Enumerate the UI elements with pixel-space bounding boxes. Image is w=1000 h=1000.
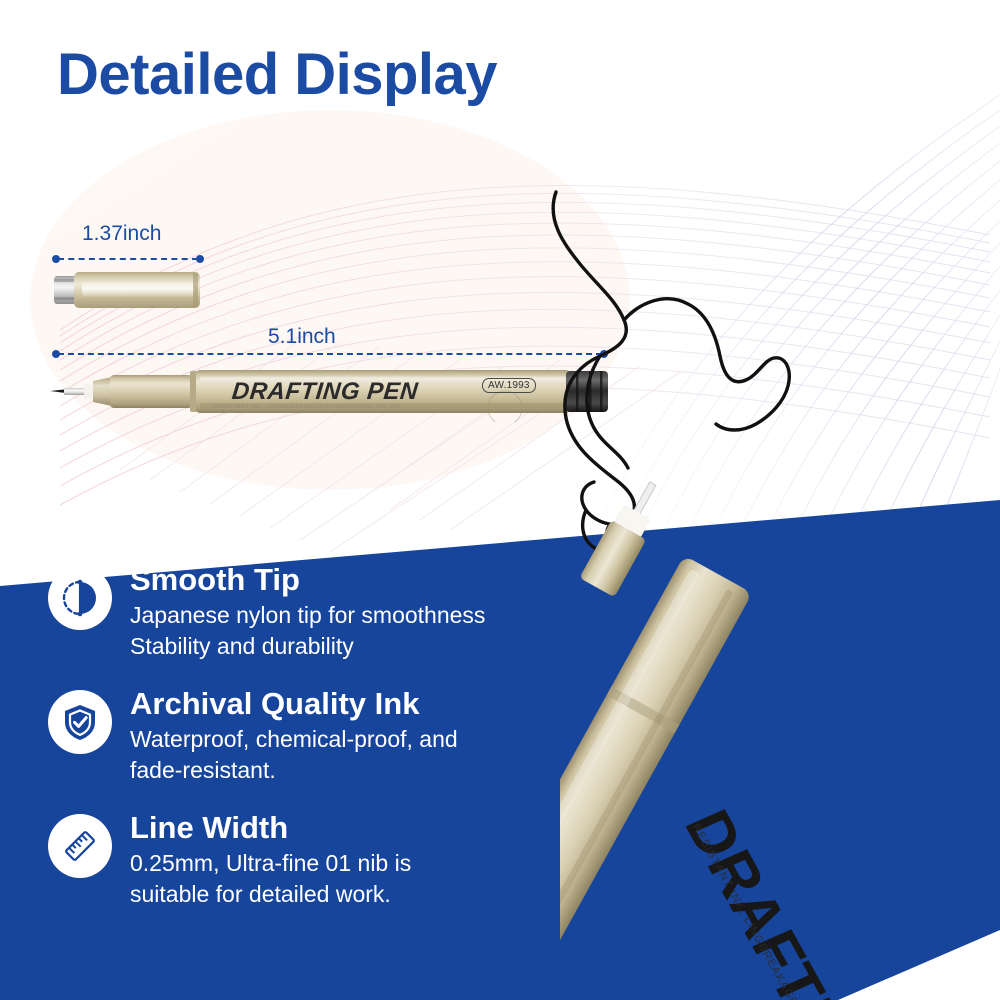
page-title: Detailed Display xyxy=(57,44,497,106)
feature-item-archival-quality-ink: Archival Quality Ink Waterproof, chemica… xyxy=(48,684,608,786)
feature-text-block: Archival Quality Ink Waterproof, chemica… xyxy=(130,684,458,786)
cap-measurement-label: 1.37inch xyxy=(82,222,161,246)
ruler-icon xyxy=(48,814,112,878)
feature-list: Smooth Tip Japanese nylon tip for smooth… xyxy=(48,560,608,932)
feature-description-line: suitable for detailed work. xyxy=(130,879,411,910)
product-detail-page: Detailed Display 1.37inch xyxy=(0,0,1000,1000)
feature-text-block: Line Width 0.25mm, Ultra-fine 01 nib is … xyxy=(130,808,411,910)
feature-description-line: Stability and durability xyxy=(130,631,485,662)
pen-cap-illustration xyxy=(52,266,204,314)
feature-description-line: Japanese nylon tip for smoothness xyxy=(130,600,485,631)
feature-description: Waterproof, chemical-proof, and fade-res… xyxy=(130,724,458,786)
dimension-endpoint-right xyxy=(600,350,608,358)
feature-item-smooth-tip: Smooth Tip Japanese nylon tip for smooth… xyxy=(48,560,608,662)
pen-model-badge: AW.1993 xyxy=(482,378,536,393)
cap-dimension-line xyxy=(52,253,204,265)
dimension-dashed-bar xyxy=(58,353,602,355)
body-measurement-label: 5.1inch xyxy=(268,325,336,349)
feature-title: Archival Quality Ink xyxy=(130,686,458,722)
pen-microtext: RESISTANT INK, LINGBREAKAGEWITHSMOOTHING… xyxy=(213,404,401,409)
feature-description: 0.25mm, Ultra-fine 01 nib is suitable fo… xyxy=(130,848,411,910)
pen-brand-text: DRAFTING PEN xyxy=(231,378,420,406)
dimension-endpoint-right xyxy=(196,255,204,263)
feature-text-block: Smooth Tip Japanese nylon tip for smooth… xyxy=(130,560,485,662)
shield-check-icon xyxy=(48,690,112,754)
feature-description-line: fade-resistant. xyxy=(130,755,458,786)
feature-description: Japanese nylon tip for smoothness Stabil… xyxy=(130,600,485,662)
feature-item-line-width: Line Width 0.25mm, Ultra-fine 01 nib is … xyxy=(48,808,608,910)
body-dimension-line xyxy=(52,348,608,360)
feature-title: Line Width xyxy=(130,810,411,846)
smooth-tip-icon xyxy=(48,566,112,630)
feature-description-line: 0.25mm, Ultra-fine 01 nib is xyxy=(130,848,411,879)
dimension-dashed-bar xyxy=(58,258,198,260)
feature-description-line: Waterproof, chemical-proof, and xyxy=(130,724,458,755)
feature-title: Smooth Tip xyxy=(130,562,485,598)
